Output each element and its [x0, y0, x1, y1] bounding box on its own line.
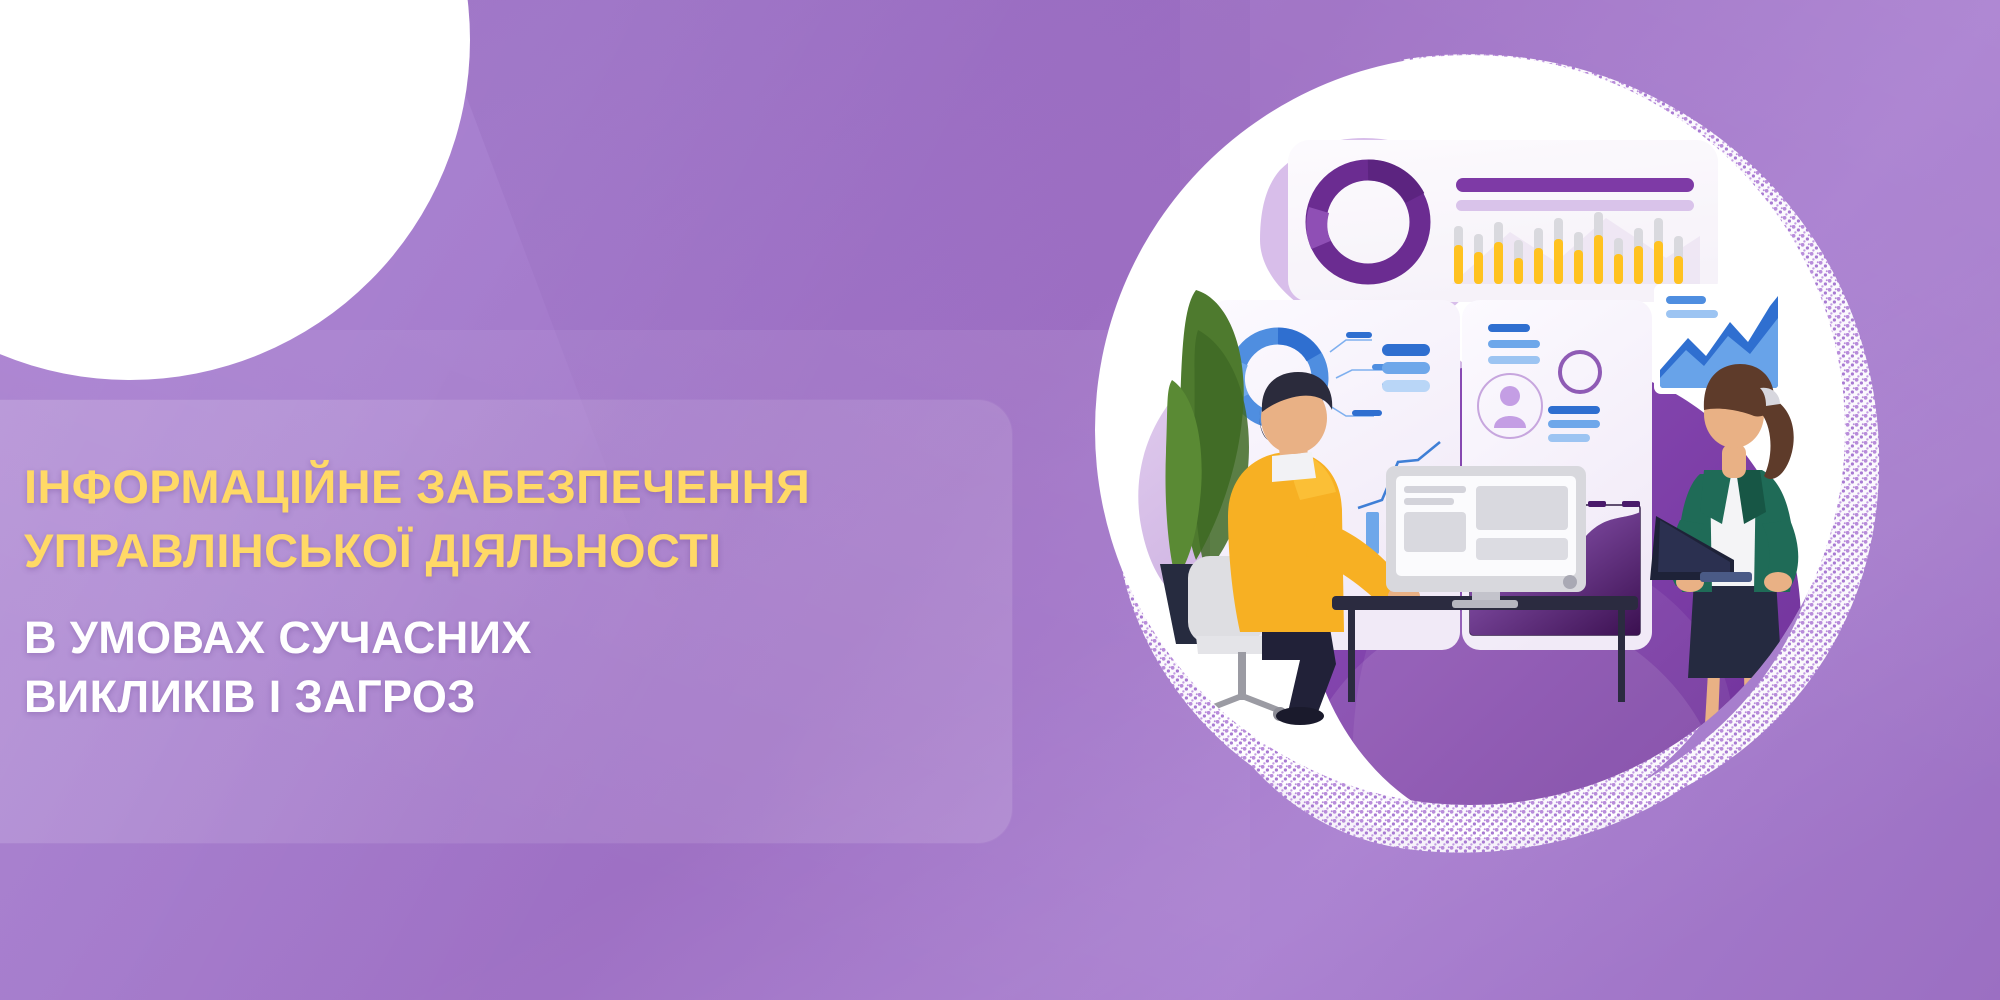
logo-disc [0, 0, 470, 380]
woman-skirt [1688, 580, 1782, 678]
right-card-pill-2 [1488, 340, 1540, 348]
label-pill-4 [1352, 410, 1382, 416]
headline-line-4: ВИКЛИКІВ І ЗАГРОЗ [24, 673, 1004, 721]
woman-shoe-right [1744, 772, 1778, 792]
headline-line-2: УПРАВЛІНСЬКОЇ ДІЯЛЬНОСТІ [24, 526, 1004, 576]
top-card-title-bar [1456, 178, 1694, 192]
right-card-pill-5 [1548, 420, 1600, 428]
thumbnail-pill-2 [1666, 310, 1718, 318]
label-pill-1 [1346, 332, 1372, 338]
man-collar [1272, 452, 1316, 482]
woman-neck [1722, 444, 1746, 478]
top-dashboard-card [1288, 140, 1718, 302]
banner: ІНФОРМАЦІЙНЕ ЗАБЕЗПЕЧЕННЯ УПРАВЛІНСЬКОЇ … [0, 0, 2000, 1000]
right-card-pill-6 [1548, 434, 1590, 442]
headline-line-1: ІНФОРМАЦІЙНЕ ЗАБЕЗПЕЧЕННЯ [24, 462, 1004, 512]
monitor [1386, 466, 1586, 608]
thumbnail-pill-1 [1666, 296, 1706, 304]
headline-spacer [24, 590, 1004, 614]
left-card-pill-1 [1382, 344, 1430, 356]
right-card-pill-4 [1548, 406, 1600, 414]
top-card-subtitle-bar [1456, 200, 1694, 211]
headline-block: ІНФОРМАЦІЙНЕ ЗАБЕЗПЕЧЕННЯ УПРАВЛІНСЬКОЇ … [24, 462, 1004, 733]
left-card-pill-3 [1382, 380, 1430, 392]
illustration [1000, 0, 2000, 1000]
right-card-pill-3 [1488, 356, 1540, 364]
headline-line-3: В УМОВАХ СУЧАСНИХ [24, 614, 1004, 662]
man-shoe [1276, 707, 1324, 725]
left-card-pill-2 [1382, 362, 1430, 374]
right-card-pill-1 [1488, 324, 1530, 332]
